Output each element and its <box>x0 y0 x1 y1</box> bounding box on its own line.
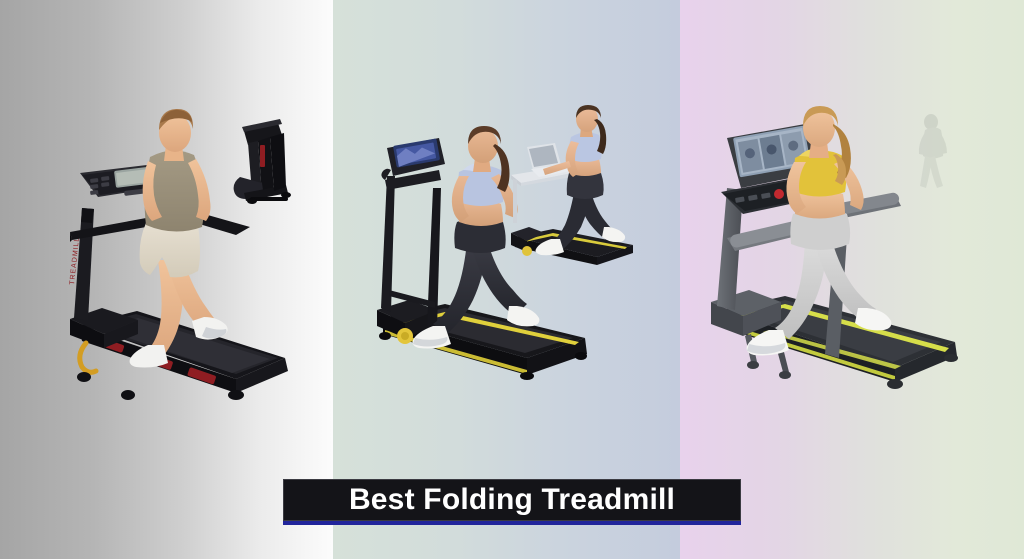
panel-1-inset-folded-treadmill <box>222 115 302 205</box>
banner-underline <box>283 521 741 525</box>
banner-image: TREADMILL <box>0 0 1024 559</box>
banner-title: Best Folding Treadmill <box>349 485 675 515</box>
title-banner: Best Folding Treadmill <box>283 479 741 521</box>
treadmill-2-frame <box>377 300 587 380</box>
panel-2-inset-standing-desk <box>505 125 655 270</box>
panel-3-inset-ghost-figure <box>905 112 965 192</box>
treadmill-2-handrail <box>381 138 445 329</box>
